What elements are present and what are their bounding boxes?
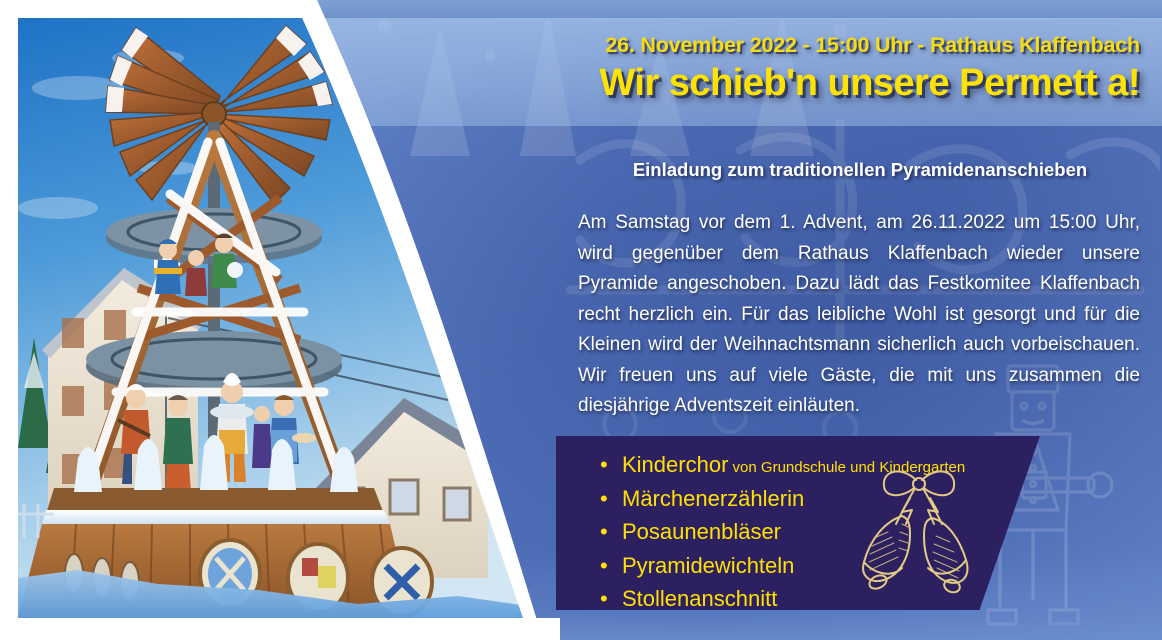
program-banner: • Kinderchor von Grundschule und Kinderg… bbox=[556, 436, 1040, 610]
program-item-sub: von Grundschule und Kindergarten bbox=[728, 459, 965, 476]
program-item-label: Märchenerzählerin bbox=[622, 486, 804, 511]
bullet-icon: • bbox=[600, 551, 608, 582]
program-item-label: Pyramidewichteln bbox=[622, 553, 794, 578]
bullet-icon: • bbox=[600, 517, 608, 548]
list-item: • Pyramidewichteln bbox=[600, 551, 1040, 585]
bullet-icon: • bbox=[600, 450, 608, 481]
program-list: • Kinderchor von Grundschule und Kinderg… bbox=[556, 436, 1040, 618]
event-datetime-location: 26. November 2022 - 15:00 Uhr - Rathaus … bbox=[460, 32, 1140, 58]
headline-block: 26. November 2022 - 15:00 Uhr - Rathaus … bbox=[460, 32, 1140, 106]
list-item: • Märchenerzählerin bbox=[600, 484, 1040, 518]
program-item-label: Stollenanschnitt bbox=[622, 586, 777, 611]
invitation-subhead: Einladung zum traditionellen Pyramidenan… bbox=[580, 158, 1140, 182]
bullet-icon: • bbox=[600, 584, 608, 615]
program-item-label: Posaunenbläser bbox=[622, 519, 781, 544]
list-item: • Posaunenbläser bbox=[600, 517, 1040, 551]
poster: 26. November 2022 - 15:00 Uhr - Rathaus … bbox=[0, 0, 1162, 640]
invitation-paragraph: Am Samstag vor dem 1. Advent, am 26.11.2… bbox=[578, 208, 1140, 422]
invitation-body: Am Samstag vor dem 1. Advent, am 26.11.2… bbox=[578, 208, 1140, 422]
bullet-icon: • bbox=[600, 484, 608, 515]
program-item-label: Kinderchor bbox=[622, 452, 728, 477]
poster-title: Wir schieb'n unsere Permett a! bbox=[460, 60, 1140, 106]
list-item: • Kinderchor von Grundschule und Kinderg… bbox=[600, 450, 1040, 484]
